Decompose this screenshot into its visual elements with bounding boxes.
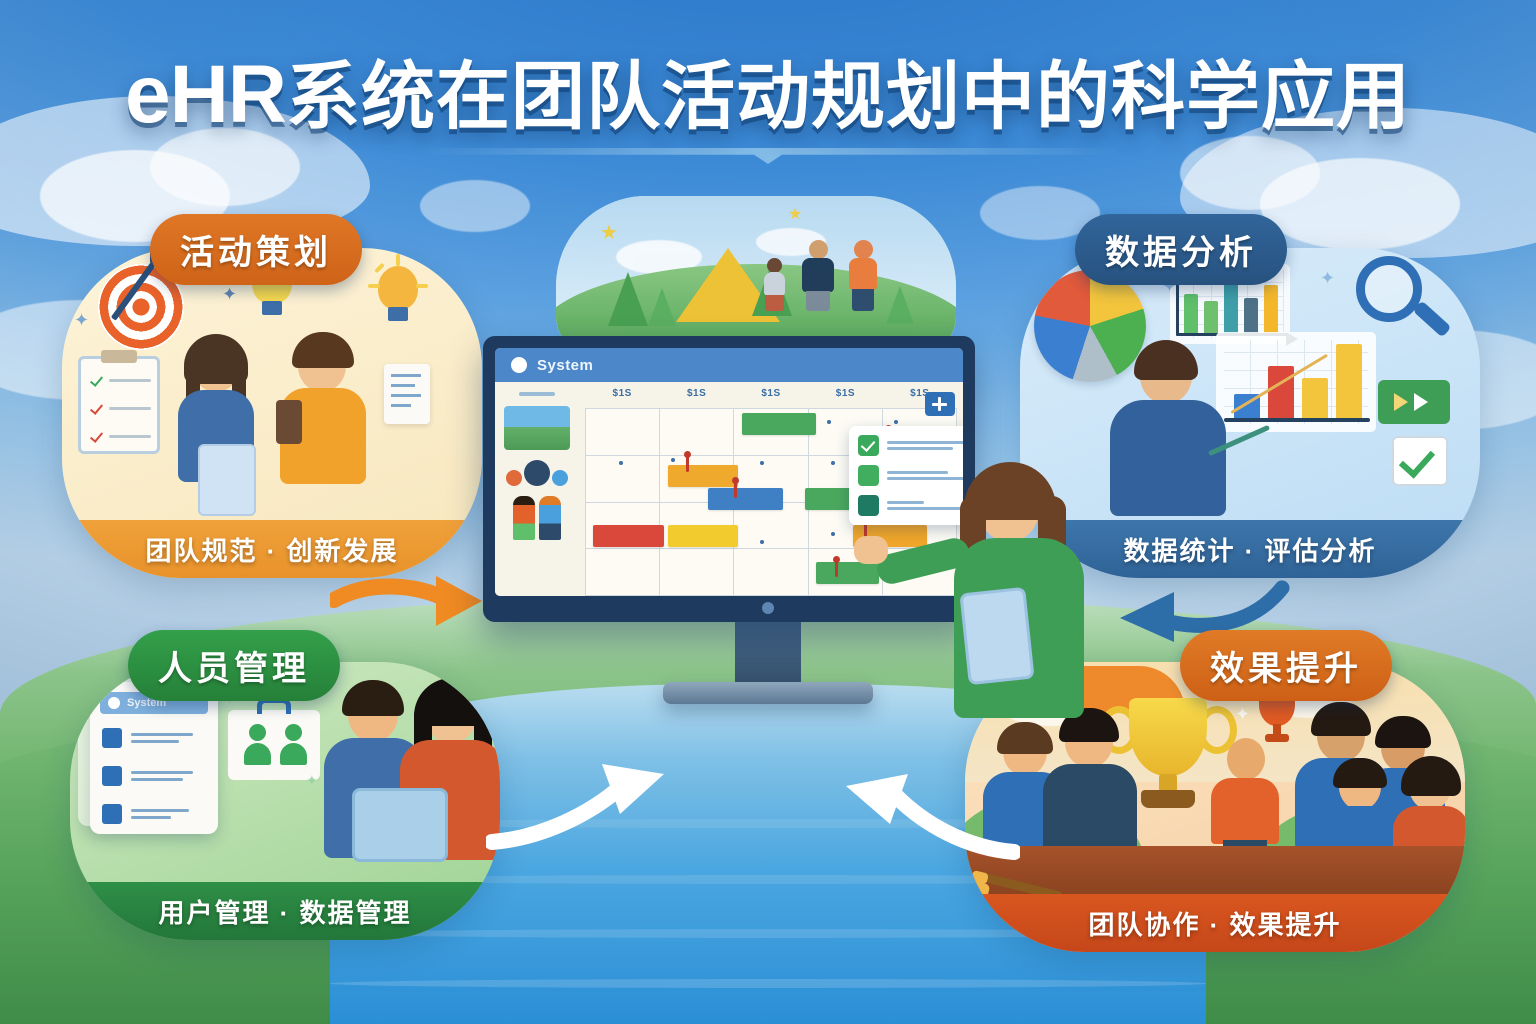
calendar-event[interactable] xyxy=(668,465,738,487)
form-row[interactable] xyxy=(102,728,193,748)
pin-marker-icon xyxy=(835,559,838,577)
calendar-event[interactable] xyxy=(668,525,738,547)
monitor-stand-neck xyxy=(735,622,801,686)
analyst-figure xyxy=(1102,342,1232,522)
tablet-icon xyxy=(352,788,448,862)
app-title: System xyxy=(537,357,593,374)
arrow-plan-to-monitor xyxy=(330,570,490,642)
add-event-button[interactable] xyxy=(925,392,955,416)
caption-effect-improvement: 团队协作 · 效果提升 xyxy=(965,894,1465,952)
celebrant-figure xyxy=(1209,736,1281,862)
checkbox-icon[interactable] xyxy=(858,495,879,516)
clipboard-icon xyxy=(78,356,160,454)
person-icon xyxy=(278,724,308,766)
arrow-result-to-monitor xyxy=(840,770,1020,860)
app-titlebar: System xyxy=(495,348,963,382)
calendar-event[interactable] xyxy=(816,562,879,584)
people-illustration xyxy=(513,496,561,540)
planner-figure-woman xyxy=(170,340,262,520)
tablet-icon xyxy=(959,587,1034,685)
calendar-event[interactable] xyxy=(593,525,663,547)
page-title-en: eHR xyxy=(125,49,286,140)
checkbox-icon[interactable] xyxy=(102,728,122,748)
checkbox-icon[interactable] xyxy=(858,465,879,486)
page-title: eHR系统在团队活动规划中的科学应用 xyxy=(125,52,1411,138)
calendar-col-header: $1S xyxy=(659,388,733,408)
calendar-col-header: $1S xyxy=(734,388,808,408)
phone-icon xyxy=(276,400,302,444)
arrow-people-to-monitor xyxy=(486,760,676,850)
camper-figure xyxy=(762,258,788,316)
checklist-item[interactable] xyxy=(858,435,963,456)
monitor-stand-base xyxy=(663,682,873,704)
tree-icon xyxy=(648,288,676,326)
pin-marker-icon xyxy=(686,454,689,472)
camper-figure xyxy=(846,240,880,320)
person-icon xyxy=(242,724,272,766)
bar-chart-large xyxy=(1216,332,1376,432)
document-icon xyxy=(384,364,430,424)
badge-people-management[interactable]: 人员管理 xyxy=(128,630,340,701)
checkbox-checked-icon[interactable] xyxy=(858,435,879,456)
tree-icon xyxy=(608,272,648,326)
infographic-canvas: eHR系统在团队活动规划中的科学应用 ★ ★ xyxy=(0,0,1536,1024)
green-tag-icon xyxy=(1378,380,1450,424)
id-badge-card xyxy=(228,710,320,780)
check-icon xyxy=(1392,436,1448,486)
presenter-figure-woman xyxy=(930,462,1100,762)
star-icon: ★ xyxy=(788,204,802,224)
caption-people-management: 用户管理 · 数据管理 xyxy=(70,882,500,940)
planner-figure-man xyxy=(276,334,372,520)
badge-effect-improvement[interactable]: 效果提升 xyxy=(1180,630,1392,701)
hero-camping-scene: ★ ★ xyxy=(556,196,956,356)
sidebar[interactable] xyxy=(495,382,579,596)
form-row[interactable] xyxy=(102,804,189,824)
lightbulb-icon xyxy=(372,262,424,334)
monitor-power-led xyxy=(762,602,774,614)
star-icon: ★ xyxy=(600,220,618,245)
thumbnail-image[interactable] xyxy=(504,406,570,450)
pin-marker-icon xyxy=(734,480,737,498)
team-avatar-group xyxy=(506,460,568,486)
calendar-event[interactable] xyxy=(742,413,816,435)
magnifier-icon xyxy=(1356,256,1460,360)
page-title-cn: 系统在团队活动规划中的科学应用 xyxy=(286,55,1411,138)
calendar-column-headers: $1S $1S $1S $1S $1S xyxy=(585,388,957,408)
tree-icon xyxy=(886,286,914,324)
calendar-event[interactable] xyxy=(708,488,782,510)
form-card-primary[interactable]: System xyxy=(90,682,218,834)
camper-figure xyxy=(800,240,836,320)
page-title-container: eHR系统在团队活动规划中的科学应用 xyxy=(0,52,1536,138)
tablet-icon xyxy=(198,444,256,516)
checkbox-icon[interactable] xyxy=(102,804,122,824)
status-dot-icon xyxy=(108,697,120,709)
sidebar-handle xyxy=(519,392,555,396)
calendar-col-header: $1S xyxy=(808,388,882,408)
panel-activity-planning: ✦ ✦ 团队规范 · 创新发展 xyxy=(62,248,482,578)
panel-people-management: System xyxy=(70,662,500,940)
badge-activity-planning[interactable]: 活动策划 xyxy=(150,214,362,285)
status-dot-icon xyxy=(511,357,527,373)
hand-pointing xyxy=(854,536,888,564)
calendar-col-header: $1S xyxy=(585,388,659,408)
checkbox-icon[interactable] xyxy=(102,766,122,786)
form-row[interactable] xyxy=(102,766,193,786)
badge-data-analysis[interactable]: 数据分析 xyxy=(1075,214,1287,285)
